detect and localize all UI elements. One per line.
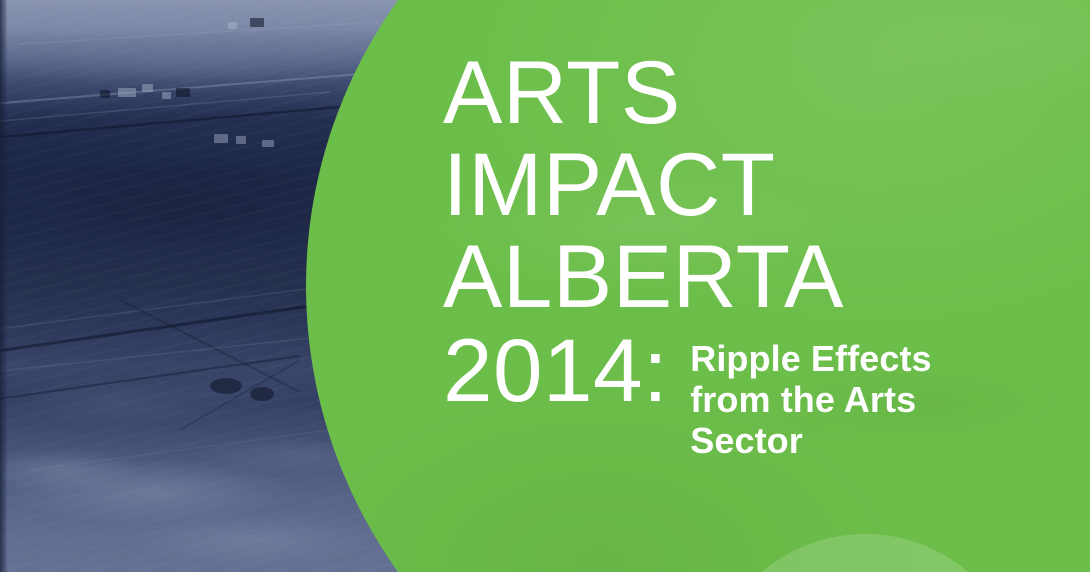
year-subtitle-row: 2014: Ripple Effects from the Arts Secto… bbox=[443, 324, 1063, 461]
title-line-alberta: ALBERTA bbox=[443, 230, 1063, 322]
report-cover: ARTS IMPACT ALBERTA 2014: Ripple Effects… bbox=[0, 0, 1090, 572]
title-line-impact: IMPACT bbox=[443, 138, 1063, 230]
photo-left-edge-shadow bbox=[0, 0, 7, 572]
title-line-arts: ARTS bbox=[443, 46, 1063, 138]
title-year: 2014: bbox=[443, 324, 668, 416]
cover-subtitle: Ripple Effects from the Arts Sector bbox=[690, 338, 960, 461]
cover-title-block: ARTS IMPACT ALBERTA 2014: Ripple Effects… bbox=[443, 46, 1063, 461]
